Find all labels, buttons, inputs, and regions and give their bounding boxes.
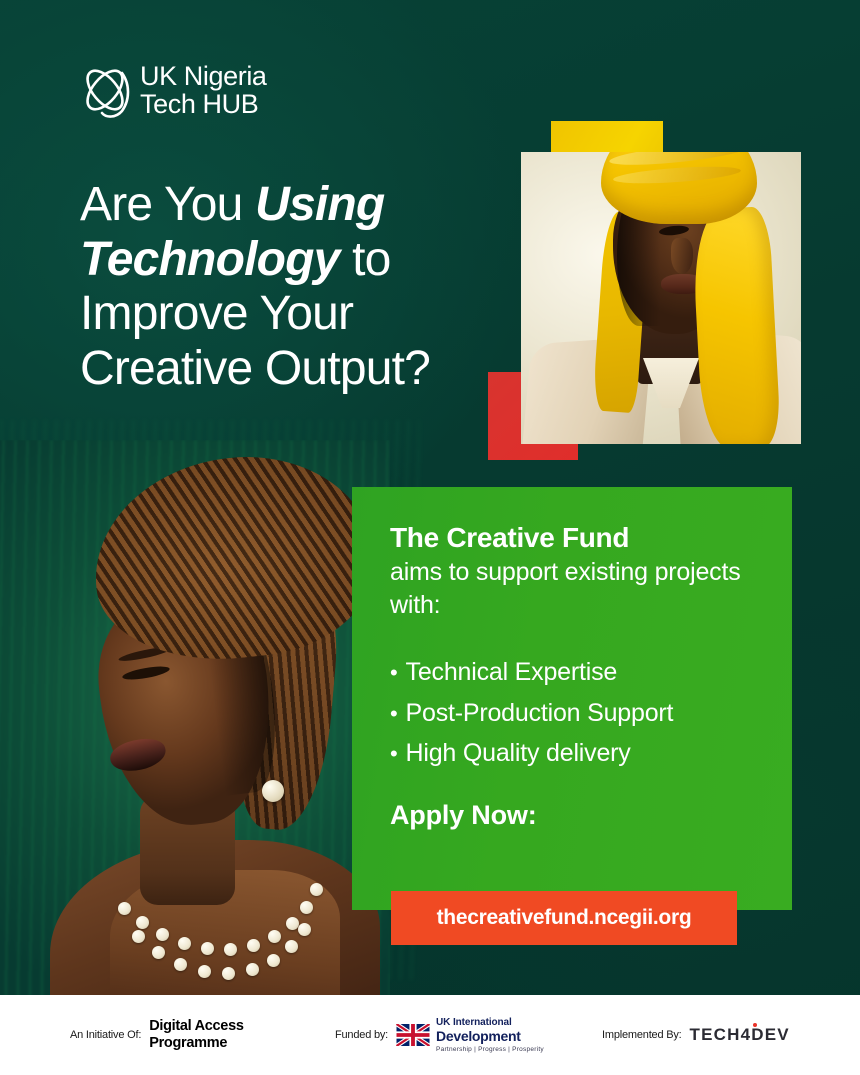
implementer-label: Implemented By: <box>602 1029 682 1041</box>
pearl-necklace <box>110 868 360 1000</box>
logo-line-1: UK Nigeria <box>140 63 267 91</box>
union-jack-flag-icon <box>396 1024 430 1046</box>
atom-orbit-icon <box>78 60 134 122</box>
headline-emphasis-2: Technology <box>80 233 340 286</box>
ukid-line-1: UK International <box>436 1017 544 1028</box>
list-item-label: Technical Expertise <box>406 652 618 693</box>
apply-url-label: thecreativefund.ncegii.org <box>437 906 692 930</box>
yellow-scarf-right <box>691 206 781 444</box>
panel-title: The Creative Fund <box>390 523 770 554</box>
footer-implementer-block: Implemented By: TECH4DEV <box>602 1025 790 1045</box>
digital-access-programme-logo: Digital Access Programme <box>149 1018 243 1052</box>
dap-line-2: Programme <box>149 1035 243 1052</box>
logo-line-2: Tech HUB <box>140 91 267 119</box>
bullet-marker-icon: • <box>390 743 398 765</box>
footer-initiative-block: An Initiative Of: Digital Access Program… <box>70 1018 244 1052</box>
list-item: • High Quality delivery <box>390 733 770 774</box>
initiative-label: An Initiative Of: <box>70 1029 141 1041</box>
benefits-list: • Technical Expertise • Post-Production … <box>390 652 770 774</box>
portrait-woman-photo <box>0 440 390 1000</box>
footer-bar: An Initiative Of: Digital Access Program… <box>0 995 860 1075</box>
list-item-label: Post-Production Support <box>406 693 674 734</box>
ukid-tagline: Partnership | Progress | Prosperity <box>436 1046 544 1053</box>
funder-label: Funded by: <box>335 1029 388 1041</box>
tech4dev-wordmark: TECH4DEV <box>690 1025 790 1045</box>
headline-emphasis-1: Using <box>255 178 384 231</box>
uk-international-development-logo: UK International Development Partnership… <box>396 1017 544 1052</box>
headline: Are You Using Technology to Improve Your… <box>80 178 500 397</box>
man-nose <box>671 238 693 274</box>
bullet-marker-icon: • <box>390 703 398 725</box>
headline-part-1: Are You <box>80 178 255 231</box>
list-item: • Technical Expertise <box>390 652 770 693</box>
brand-logo: UK Nigeria Tech HUB <box>78 60 267 122</box>
headline-part-3: to <box>340 233 391 286</box>
tech4dev-logo: TECH4DEV <box>690 1025 790 1045</box>
ukid-line-2: Development <box>436 1029 544 1044</box>
headline-line-3: Improve Your <box>80 287 353 340</box>
list-item-label: High Quality delivery <box>406 733 631 774</box>
portrait-man-photo <box>521 152 801 444</box>
apply-now-label: Apply Now: <box>390 800 770 831</box>
creative-fund-panel: The Creative Fund aims to support existi… <box>352 487 792 910</box>
dap-line-1: Digital Access <box>149 1018 243 1035</box>
yellow-turban <box>601 152 757 224</box>
top-right-composition <box>480 95 810 470</box>
headline-line-4: Creative Output? <box>80 342 430 395</box>
pearl-earring <box>262 780 284 802</box>
footer-funder-block: Funded by: UK International Development … <box>335 1017 544 1052</box>
list-item: • Post-Production Support <box>390 693 770 734</box>
apply-url-button[interactable]: thecreativefund.ncegii.org <box>391 891 737 945</box>
poster-canvas: UK Nigeria Tech HUB Are You Using Techno… <box>0 0 860 1075</box>
bullet-marker-icon: • <box>390 662 398 684</box>
panel-subtitle: aims to support existing projects with: <box>390 556 770 623</box>
